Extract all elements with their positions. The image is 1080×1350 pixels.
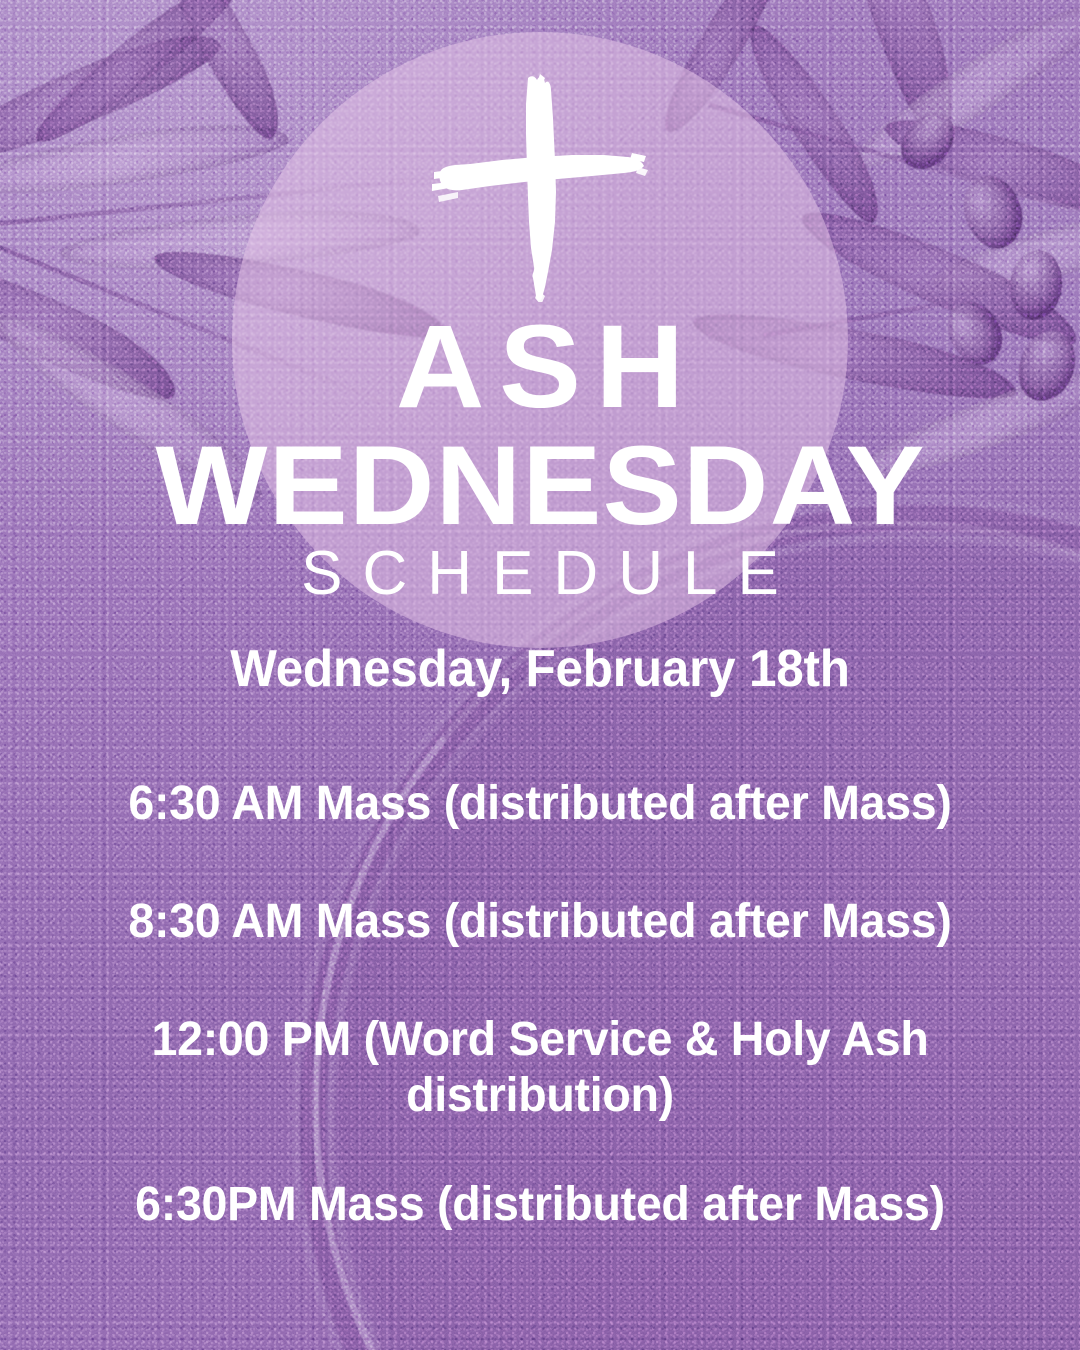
headline-wednesday: WEDNESDAY xyxy=(0,430,1080,542)
schedule-item: 12:00 PM (Word Service & Holy Ash distri… xyxy=(86,1012,994,1124)
subheadline-schedule: SCHEDULE xyxy=(0,540,1080,608)
poster-content: ASH WEDNESDAY SCHEDULE Wednesday, Februa… xyxy=(0,0,1080,1350)
schedule-item: 6:30PM Mass (distributed after Mass) xyxy=(86,1177,994,1233)
schedule-item: 8:30 AM Mass (distributed after Mass) xyxy=(86,894,994,950)
schedule-list: 6:30 AM Mass (distributed after Mass) 8:… xyxy=(72,776,1008,1233)
ash-wednesday-poster: ASH WEDNESDAY SCHEDULE Wednesday, Februa… xyxy=(0,0,1080,1350)
date-line: Wednesday, February 18th xyxy=(27,640,1053,700)
headline-ash: ASH xyxy=(0,308,1080,426)
schedule-item: 6:30 AM Mass (distributed after Mass) xyxy=(86,776,994,832)
